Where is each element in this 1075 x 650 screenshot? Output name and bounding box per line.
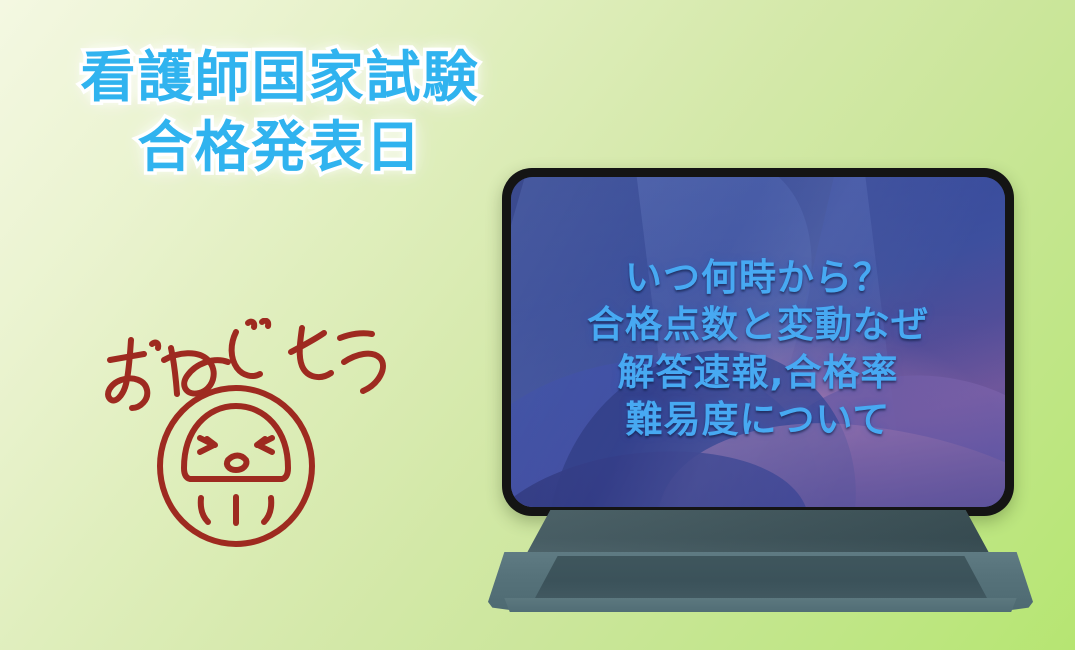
laptop-lid: いつ何時から？ 合格点数と変動なぜ 解答速報,合格率 難易度について	[502, 168, 1014, 516]
daruma-beard-right	[264, 498, 271, 522]
title-line-primary: 看護師国家試験	[40, 48, 520, 106]
screen-headline: いつ何時から？ 合格点数と変動なぜ 解答速報,合格率 難易度について	[511, 177, 1005, 507]
daruma-beard-left	[201, 498, 208, 522]
handwritten-greeting-strokes	[108, 321, 383, 408]
screen-headline-line-4: 難易度について	[626, 399, 891, 441]
screen-headline-line-3: 解答速報,合格率	[617, 352, 898, 394]
daruma-illustration	[88, 318, 408, 548]
title-line-secondary: 合格発表日	[40, 118, 520, 176]
daruma-body-strokes	[160, 388, 312, 544]
daruma-mouth	[227, 456, 246, 471]
thumbnail-canvas: 看護師国家試験 合格発表日	[0, 0, 1075, 650]
daruma-drawing-svg	[88, 318, 408, 548]
screen-headline-line-2: 合格点数と変動なぜ	[587, 304, 929, 346]
laptop-front-edge	[488, 598, 1033, 612]
laptop-screen: いつ何時から？ 合格点数と変動なぜ 解答速報,合格率 難易度について	[511, 177, 1005, 507]
laptop-keyboard-deck	[535, 556, 987, 598]
screen-headline-line-1: いつ何時から？	[625, 257, 891, 299]
page-title: 看護師国家試験 合格発表日	[40, 48, 520, 177]
laptop-illustration: いつ何時から？ 合格点数と変動なぜ 解答速報,合格率 難易度について	[480, 160, 1040, 600]
